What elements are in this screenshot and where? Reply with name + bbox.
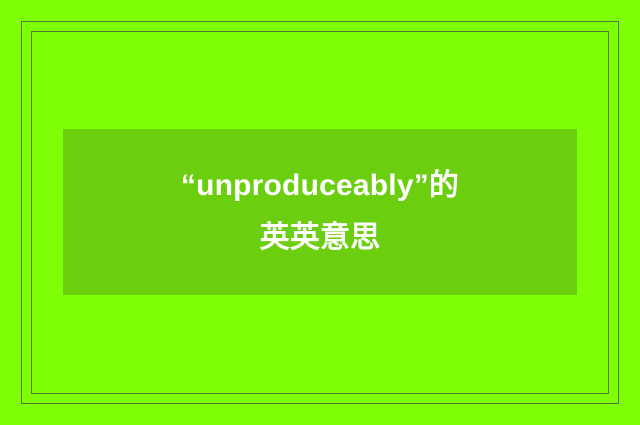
page-title: “unproduceably”的英英意思	[170, 160, 470, 263]
page-canvas: “unproduceably”的英英意思	[0, 0, 640, 425]
title-card: “unproduceably”的英英意思	[63, 129, 577, 295]
